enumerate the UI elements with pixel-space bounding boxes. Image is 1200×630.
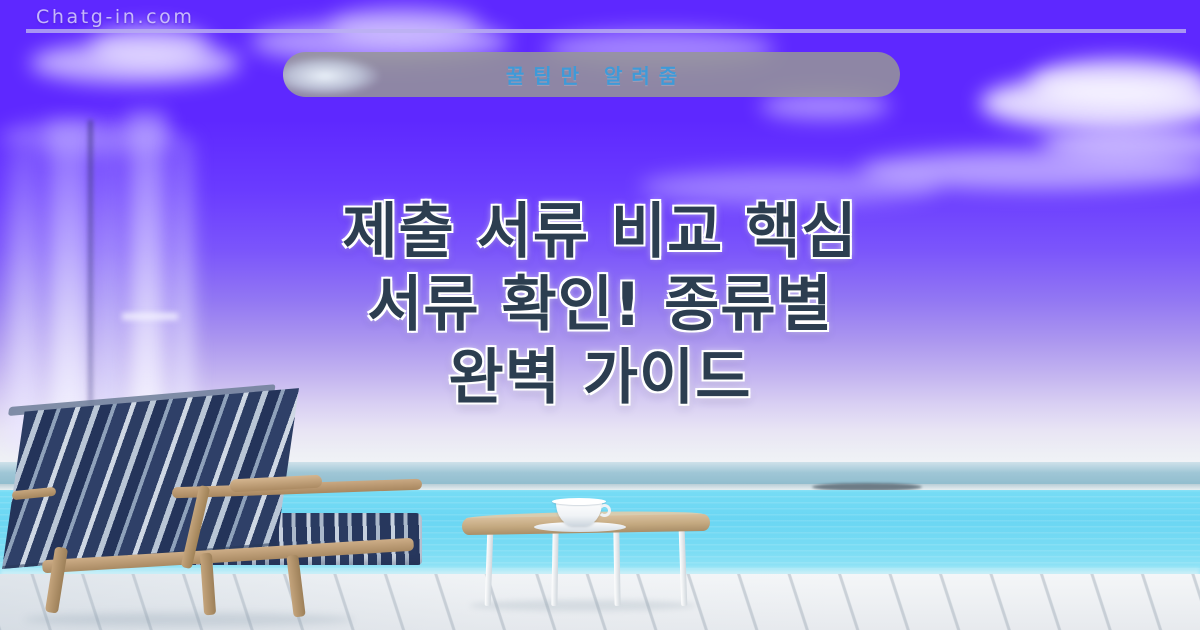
table-leg [679,530,688,606]
title-line-2: 서류 확인! 종류별 [0,269,1200,342]
table-leg [485,530,494,606]
title-line-1: 제출 서류 비교 핵심 [0,196,1200,269]
coffee-cup-rim [552,498,606,505]
cloud-icon [330,6,480,44]
cloud-icon [1030,58,1200,106]
lounge-chair [0,405,414,630]
page-title: 제출 서류 비교 핵심 서류 확인! 종류별 완벽 가이드 [0,196,1200,415]
table-shadow [470,600,696,611]
site-watermark: Chatg-in.com [36,6,194,28]
tagline-badge-label: 꿀팁만 알려줌 [497,60,686,89]
watermark-divider [26,29,1186,33]
badge-glow-icon [283,56,381,96]
table-leg [551,530,558,606]
coffee-cup-handle [598,504,611,517]
title-line-3: 완벽 가이드 [0,342,1200,415]
tagline-badge[interactable]: 꿀팁만 알려줌 [283,52,900,97]
table-leg [613,530,620,606]
thumbnail-canvas: Chatg-in.com 꿀팁만 알려줌 제출 서류 비교 핵심 서류 확인! … [0,0,1200,630]
